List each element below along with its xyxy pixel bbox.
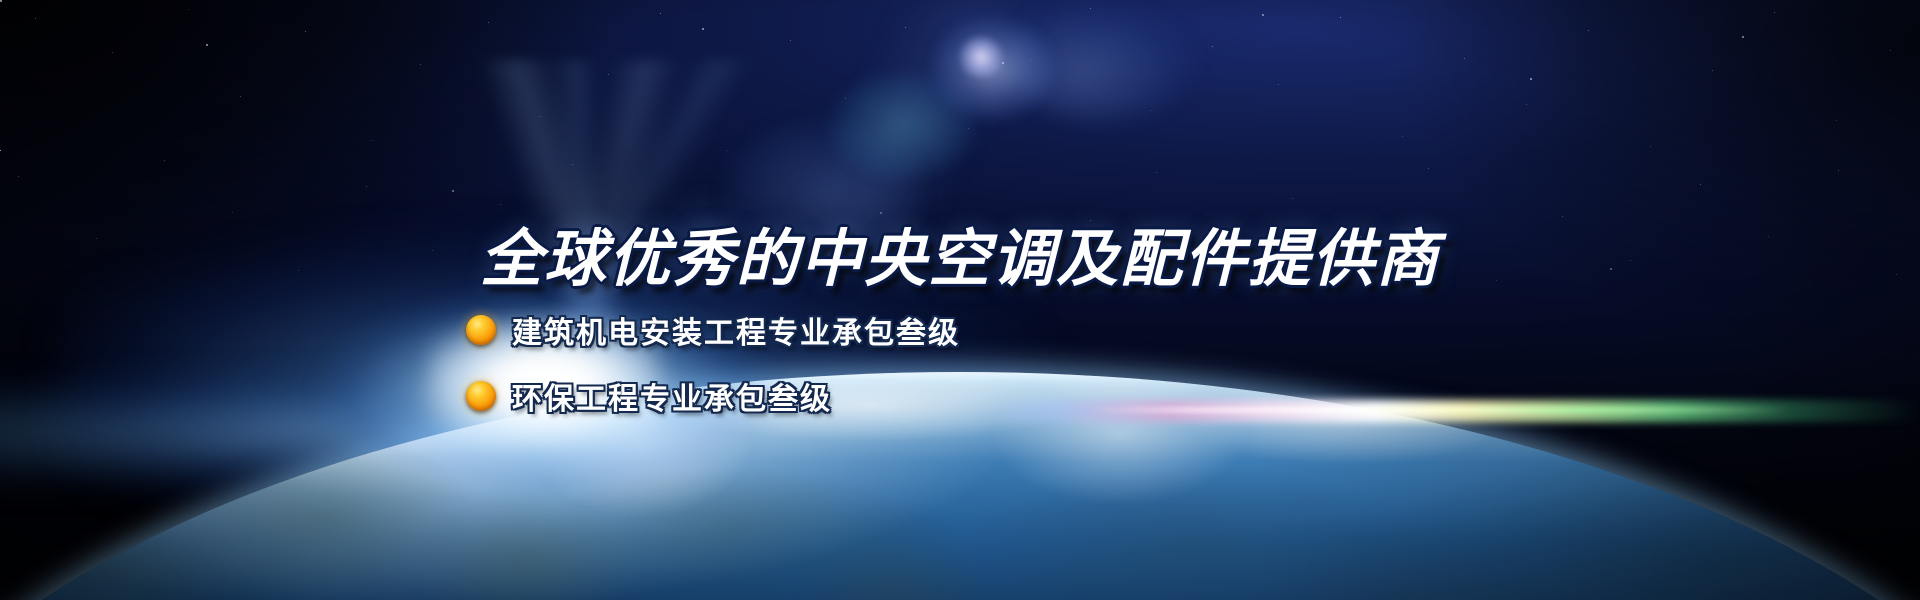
list-item: 环保工程专业承包叁级 [466, 374, 960, 418]
banner-headline: 全球优秀的中央空调及配件提供商 [480, 208, 1440, 298]
qualification-label: 环保工程专业承包叁级 [512, 374, 832, 418]
list-item: 建筑机电安装工程专业承包叁级 [466, 308, 960, 352]
orange-dot-icon [466, 381, 496, 411]
qualification-list: 建筑机电安装工程专业承包叁级 环保工程专业承包叁级 [466, 308, 960, 418]
orange-dot-icon [466, 315, 496, 345]
banner-content: 全球优秀的中央空调及配件提供商 建筑机电安装工程专业承包叁级 环保工程专业承包叁… [0, 0, 1920, 600]
qualification-label: 建筑机电安装工程专业承包叁级 [512, 308, 960, 352]
hero-banner: 全球优秀的中央空调及配件提供商 建筑机电安装工程专业承包叁级 环保工程专业承包叁… [0, 0, 1920, 600]
